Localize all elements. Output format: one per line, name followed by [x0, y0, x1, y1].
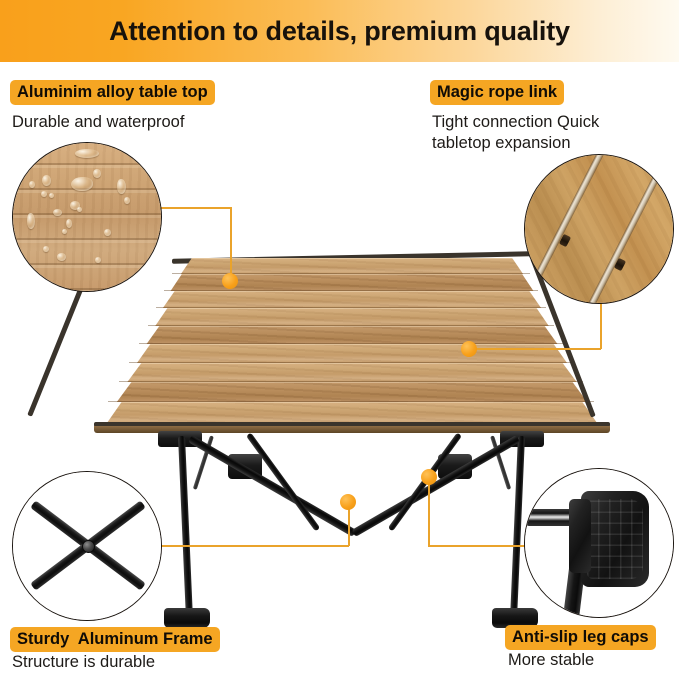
connector-line-bottom-right-v: [428, 480, 430, 546]
callout-label-table-top: Aluminim alloy table top: [10, 80, 215, 105]
water-droplet: [93, 169, 101, 178]
water-droplet: [41, 191, 47, 197]
connector-line-top-left-v: [230, 207, 232, 281]
callout-label-leg-caps: Anti-slip leg caps: [505, 625, 656, 650]
infographic-canvas: Attention to details, premium quality: [0, 0, 679, 673]
connector-line-top-left-h: [156, 207, 231, 209]
callout-desc-rope-link: Tight connection Quick tabletop expansio…: [432, 112, 599, 154]
water-droplet: [75, 149, 99, 158]
center-bolt: [82, 540, 95, 553]
marker-dot-leg-cap: [421, 469, 437, 485]
water-droplet: [66, 219, 72, 228]
outer-leg-right: [510, 436, 525, 618]
page-title: Attention to details, premium quality: [109, 18, 570, 45]
water-droplet: [29, 181, 35, 188]
connector-line-bottom-left-v: [348, 505, 350, 546]
wood-texture-horizontal: [13, 143, 161, 291]
detail-circle-table-top: [12, 142, 162, 292]
water-droplet: [42, 175, 51, 186]
connector-line-top-right-h: [470, 348, 601, 350]
cap-collar: [569, 499, 591, 573]
marker-dot-rope-link: [461, 341, 477, 357]
water-droplet: [77, 207, 82, 212]
connector-line-bottom-right-h: [428, 545, 528, 547]
marker-dot-frame-cross: [340, 494, 356, 510]
water-droplet: [104, 229, 111, 236]
foot-left: [164, 608, 210, 628]
cap-tread-pattern: [587, 499, 643, 579]
water-droplet: [27, 213, 35, 229]
detail-circle-rope-link: [524, 154, 674, 304]
cross-brace-down-left: [351, 435, 520, 537]
callout-label-aluminum-frame: Sturdy Aluminum Frame: [10, 627, 220, 652]
water-droplet: [49, 193, 54, 198]
wood-texture-diagonal: [525, 155, 673, 303]
water-droplet: [71, 177, 93, 191]
leg-cap-illustration: [525, 469, 673, 617]
water-droplet: [57, 253, 66, 261]
water-droplet: [62, 229, 67, 234]
x-frame-illustration: [13, 472, 161, 620]
detail-circle-leg-cap: [524, 468, 674, 618]
outer-leg-left: [178, 436, 193, 618]
water-droplet: [53, 209, 62, 216]
water-droplet: [124, 197, 130, 204]
water-droplet: [117, 179, 126, 194]
marker-dot-table-top: [222, 273, 238, 289]
callout-desc-table-top: Durable and waterproof: [12, 112, 184, 133]
callout-label-rope-link: Magic rope link: [430, 80, 564, 105]
callout-desc-aluminum-frame: Structure is durable: [12, 652, 155, 673]
cross-brace-down-right: [188, 435, 357, 537]
header-banner: Attention to details, premium quality: [0, 0, 679, 62]
callout-desc-leg-caps: More stable: [508, 650, 594, 671]
connector-line-bottom-left-h: [156, 545, 349, 547]
water-droplet: [43, 246, 49, 252]
detail-circle-x-frame: [12, 471, 162, 621]
water-droplet: [95, 257, 101, 263]
